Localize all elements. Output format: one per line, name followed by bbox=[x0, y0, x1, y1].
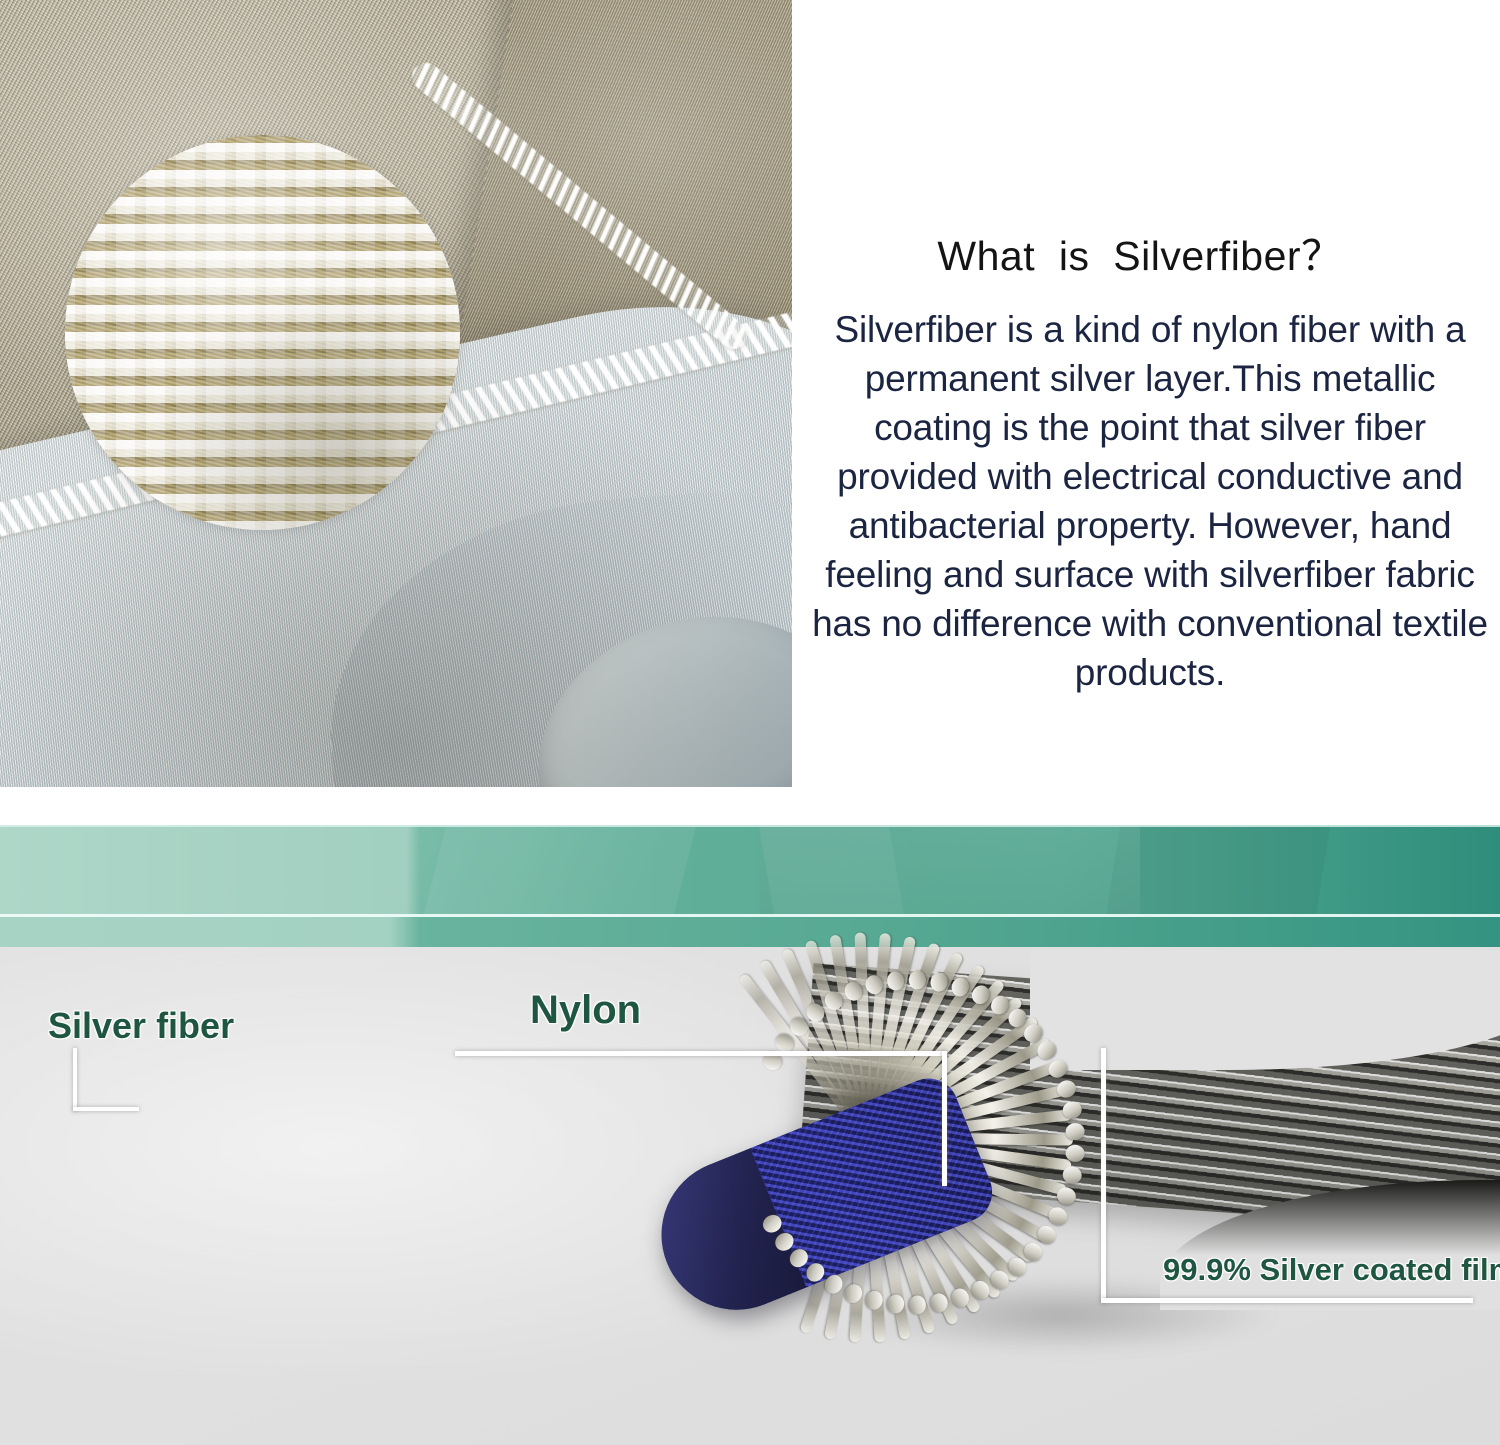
nylon-leader-horizontal bbox=[455, 1051, 947, 1056]
teal-divider-banner bbox=[0, 825, 1500, 947]
banner-white-hairline bbox=[0, 914, 1500, 917]
silver-film-leader-horizontal bbox=[1101, 1298, 1473, 1303]
silver-fiber-leader-horizontal bbox=[73, 1107, 139, 1111]
silver-film-leader-vertical bbox=[1101, 1048, 1106, 1303]
nylon-leader-vertical bbox=[942, 1051, 947, 1186]
label-silver-coated-film: 99.9% Silver coated film bbox=[1163, 1252, 1500, 1288]
woven-silver-fabric-closeup bbox=[65, 135, 460, 530]
silver-fiber-leader-vertical bbox=[73, 1048, 77, 1111]
silver-coated-fiber-illustration bbox=[600, 930, 1500, 1400]
silver-film-scalloped-rim bbox=[745, 966, 1085, 1306]
weave-highlight bbox=[65, 135, 460, 530]
page-title: What is Silverfiber？ bbox=[800, 222, 1480, 282]
label-silver-fiber: Silver fiber bbox=[48, 1005, 234, 1047]
description-column: What is Silverfiber？ Silverfiber is a ki… bbox=[800, 0, 1500, 825]
description-paragraph: Silverfiber is a kind of nylon fiber wit… bbox=[810, 305, 1490, 697]
banner-top-hairline bbox=[0, 825, 1500, 827]
label-nylon: Nylon bbox=[530, 988, 641, 1033]
